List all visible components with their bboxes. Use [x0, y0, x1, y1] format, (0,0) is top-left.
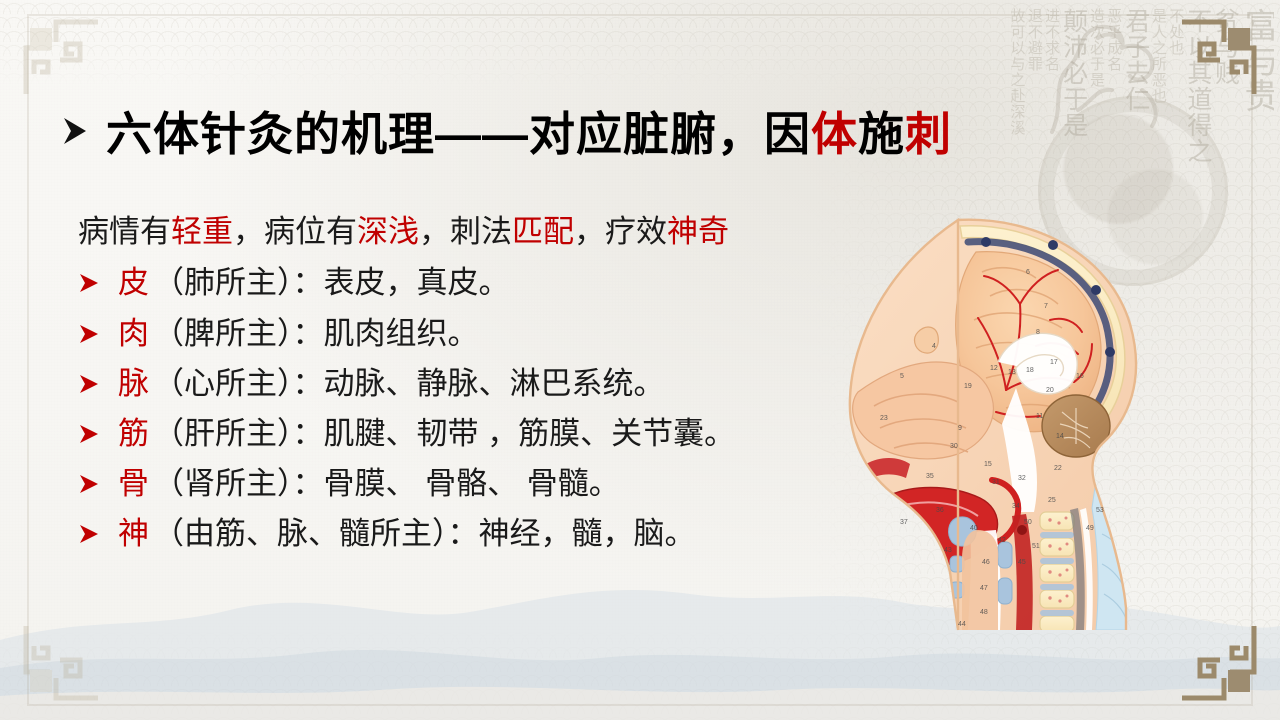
svg-text:17: 17 [1050, 359, 1058, 366]
bullet-arrow-icon [78, 323, 100, 345]
text-run-0: 六体针灸的机理——对应脏腑，因 [106, 108, 811, 160]
text-run-0: 病情有 [78, 214, 171, 249]
intro-line: 病情有轻重，病位有深浅，刺法匹配，疗效神奇 [78, 212, 908, 252]
bullet-key: 脉 [118, 359, 149, 409]
text-run-4: ，刺法 [419, 214, 512, 249]
svg-text:44: 44 [958, 621, 966, 628]
text-run-3: 刺 [905, 108, 952, 160]
svg-text:4: 4 [932, 343, 936, 350]
text-run-7: 神奇 [667, 214, 729, 249]
svg-text:43: 43 [944, 547, 952, 554]
text-run-6: ，疗效 [574, 214, 667, 249]
slide-body: 病情有轻重，病位有深浅，刺法匹配，疗效神奇 皮（肺所主）：表皮，真皮。肉（脾所主… [78, 212, 908, 560]
bullet-detail: （由筋、脉、髓所主）：神经，髓，脑。 [153, 509, 696, 559]
bullet-key: 神 [118, 509, 149, 559]
svg-text:30: 30 [950, 443, 958, 450]
text-run-2: 施 [858, 108, 905, 160]
bullet-list: 皮（肺所主）：表皮，真皮。肉（脾所主）：肌肉组织。脉（心所主）：动脉、静脉、淋巴… [78, 258, 908, 559]
svg-text:11: 11 [1036, 413, 1043, 420]
svg-text:7: 7 [1044, 303, 1048, 310]
dragon-motif-icon [1034, 14, 1184, 144]
svg-text:15: 15 [984, 461, 992, 468]
slide-title: 六体针灸的机理——对应脏腑，因体施刺 [62, 98, 952, 164]
title-bullet-arrow-icon [62, 116, 88, 146]
svg-text:25: 25 [1048, 497, 1056, 504]
svg-text:31: 31 [992, 479, 1000, 486]
bullet-arrow-icon [78, 473, 100, 495]
text-run-1: 体 [811, 108, 858, 160]
bullet-arrow-icon [78, 423, 100, 445]
svg-text:50: 50 [1024, 519, 1032, 526]
text-run-2: ，病位有 [233, 214, 357, 249]
bullet-item-神: 神（由筋、脉、髓所主）：神经，髓，脑。 [78, 509, 908, 559]
svg-text:45: 45 [1018, 559, 1026, 566]
svg-text:16: 16 [1076, 373, 1084, 380]
svg-text:34: 34 [1012, 503, 1020, 510]
svg-text:13: 13 [1008, 369, 1016, 376]
bullet-arrow-icon [78, 523, 100, 545]
svg-text:53: 53 [1096, 507, 1104, 514]
svg-text:40: 40 [970, 525, 978, 532]
svg-text:12: 12 [990, 365, 998, 372]
svg-text:35: 35 [926, 473, 934, 480]
bullet-item-筋: 筋（肝所主）：肌腱、韧带 ，筋膜、关节囊。 [78, 409, 908, 459]
svg-text:51: 51 [1032, 543, 1040, 550]
text-run-5: 匹配 [512, 214, 574, 249]
bullet-key: 皮 [118, 258, 149, 308]
bullet-detail: （肺所主）：表皮，真皮。 [153, 258, 510, 308]
svg-text:36: 36 [936, 507, 944, 514]
bullet-arrow-icon [78, 373, 100, 395]
bullet-item-骨: 骨（肾所主）：骨膜、 骨骼、 骨髓。 [78, 459, 908, 509]
bullet-arrow-icon [78, 272, 100, 294]
bullet-key: 骨 [118, 459, 149, 509]
svg-text:8: 8 [1036, 329, 1040, 336]
bullet-detail: （肝所主）：肌腱、韧带 ，筋膜、关节囊。 [153, 409, 735, 459]
bullet-item-肉: 肉（脾所主）：肌肉组织。 [78, 309, 908, 359]
svg-text:49: 49 [1086, 525, 1094, 532]
text-run-3: 深浅 [357, 214, 419, 249]
svg-text:14: 14 [1056, 433, 1064, 440]
svg-text:20: 20 [1046, 387, 1054, 394]
bullet-detail: （脾所主）：肌肉组织。 [153, 309, 479, 359]
title-text: 六体针灸的机理——对应脏腑，因体施刺 [106, 98, 952, 164]
bullet-item-脉: 脉（心所主）：动脉、静脉、淋巴系统。 [78, 359, 908, 409]
text-run-1: 轻重 [171, 214, 233, 249]
svg-text:18: 18 [1026, 367, 1034, 374]
bullet-detail: （肾所主）：骨膜、 骨骼、 骨髓。 [153, 459, 620, 509]
bullet-key: 筋 [118, 409, 149, 459]
svg-text:22: 22 [1054, 465, 1062, 472]
svg-text:47: 47 [980, 585, 988, 592]
bullet-item-皮: 皮（肺所主）：表皮，真皮。 [78, 258, 908, 308]
svg-text:32: 32 [1018, 475, 1026, 482]
svg-text:6: 6 [1026, 269, 1030, 276]
bullet-detail: （心所主）：动脉、静脉、淋巴系统。 [153, 359, 665, 409]
svg-text:42: 42 [998, 537, 1006, 544]
bullet-key: 肉 [118, 309, 149, 359]
svg-text:46: 46 [982, 559, 990, 566]
svg-text:19: 19 [964, 383, 972, 390]
slide-canvas: 富与贵贫与贱不以其道得之不处也是人之所恶也君子去仁恶乎成名造次必于是颠沛必于是进… [0, 0, 1280, 720]
svg-text:48: 48 [980, 609, 988, 616]
svg-text:9: 9 [958, 425, 962, 432]
